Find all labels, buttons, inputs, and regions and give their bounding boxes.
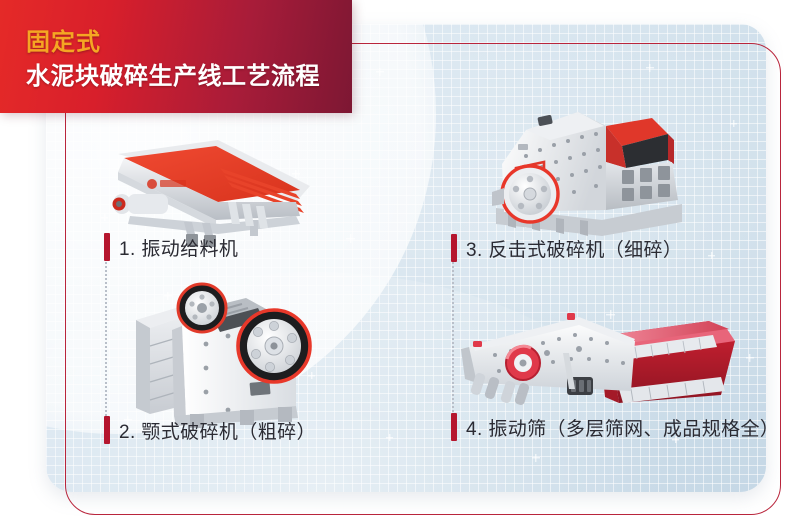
marker-bar — [104, 416, 110, 444]
step-vibrating-screen[interactable]: 4. 振动筛（多层筛网、成品规格全） — [447, 285, 792, 445]
caption-step-2: 2. 颚式破碎机（粗碎） — [104, 416, 316, 444]
title-banner: 固定式 水泥块破碎生产线工艺流程 — [0, 0, 352, 113]
caption-step-3: 3. 反击式破碎机（细碎） — [451, 234, 682, 262]
vibrating-screen-image — [459, 285, 749, 415]
infographic-canvas: 1. 振动给料机 — [0, 0, 800, 530]
caption-step-4: 4. 振动筛（多层筛网、成品规格全） — [451, 413, 779, 441]
banner-title: 水泥块破碎生产线工艺流程 — [26, 56, 320, 91]
step-label: 2. 颚式破碎机（粗碎） — [119, 417, 316, 444]
banner-subtitle: 固定式 — [26, 22, 101, 57]
impact-crusher-image — [482, 100, 702, 240]
step-label: 3. 反击式破碎机（细碎） — [466, 235, 682, 262]
marker-bar — [451, 234, 457, 262]
step-vibrating-feeder[interactable]: 1. 振动给料机 — [100, 128, 420, 258]
marker-bar — [451, 413, 457, 441]
step-label: 1. 振动给料机 — [119, 234, 238, 261]
step-impact-crusher[interactable]: 3. 反击式破碎机（细碎） — [447, 100, 787, 260]
vibrating-feeder-image — [100, 128, 330, 248]
caption-step-1: 1. 振动给料机 — [104, 233, 238, 261]
marker-bar — [104, 233, 110, 261]
jaw-crusher-image — [130, 268, 370, 428]
step-label: 4. 振动筛（多层筛网、成品规格全） — [466, 414, 779, 441]
step-jaw-crusher[interactable]: 2. 颚式破碎机（粗碎） — [100, 268, 420, 443]
